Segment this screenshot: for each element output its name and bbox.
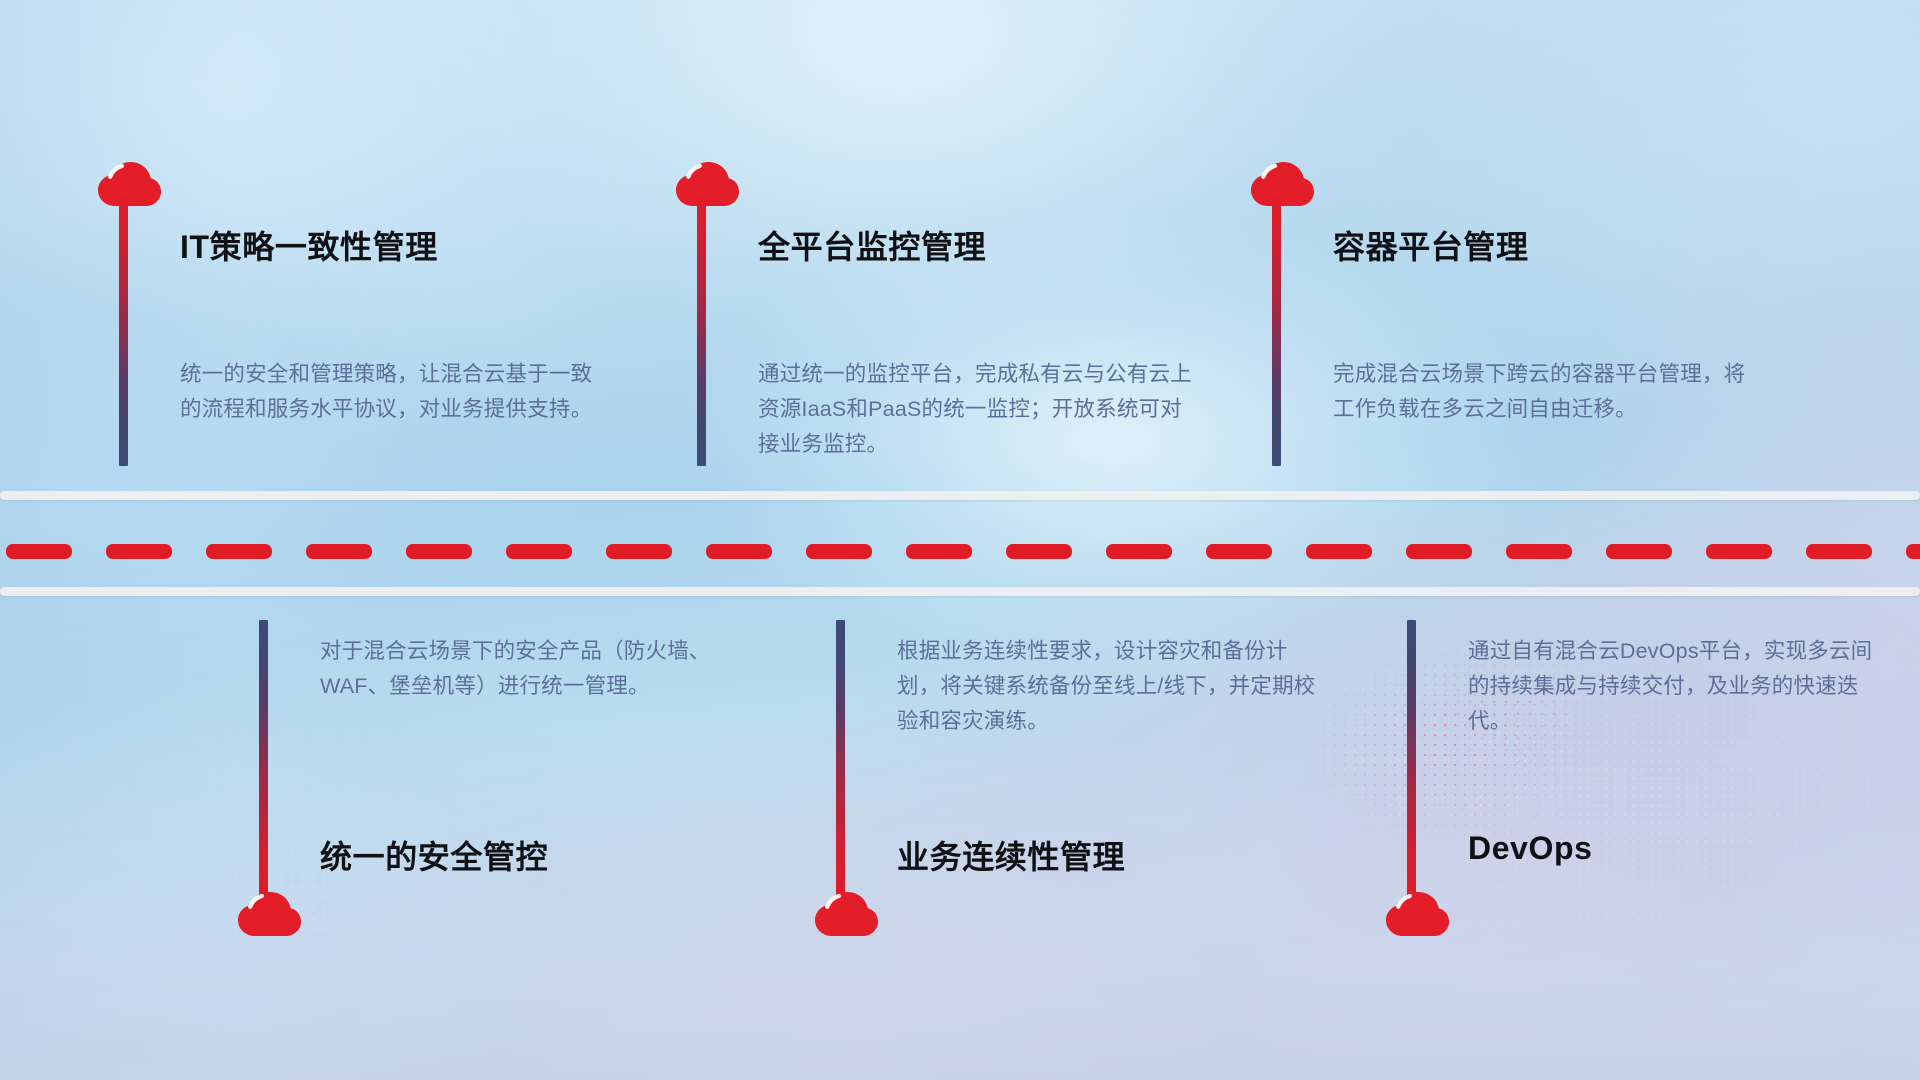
divider-dash <box>1706 544 1772 559</box>
divider-dash <box>1406 544 1472 559</box>
item-title: 全平台监控管理 <box>758 222 986 268</box>
marker-stem <box>119 196 128 466</box>
item-body: 根据业务连续性要求，设计容灾和备份计划，将关键系统备份至线上/线下，并定期校验和… <box>897 634 1317 739</box>
divider-dash <box>1306 544 1372 559</box>
item-title: IT策略一致性管理 <box>180 222 438 268</box>
divider-dash <box>1606 544 1672 559</box>
divider-dash <box>406 544 472 559</box>
divider-line-lower <box>0 587 1920 596</box>
divider-line-upper <box>0 491 1920 500</box>
item-body: 完成混合云场景下跨云的容器平台管理，将工作负载在多云之间自由迁移。 <box>1333 357 1763 427</box>
divider-dash <box>1906 544 1920 559</box>
item-title: 统一的安全管控 <box>320 832 548 878</box>
divider-dash <box>906 544 972 559</box>
divider-dash <box>206 544 272 559</box>
cloud-icon <box>236 890 302 938</box>
item-body: 通过自有混合云DevOps平台，实现多云间的持续集成与持续交付，及业务的快速迭代… <box>1468 634 1888 739</box>
divider-dash <box>1206 544 1272 559</box>
marker-stem <box>1407 620 1416 896</box>
divider-dash <box>706 544 772 559</box>
divider-dash <box>506 544 572 559</box>
divider-dash <box>1806 544 1872 559</box>
item-body: 对于混合云场景下的安全产品（防火墙、WAF、堡垒机等）进行统一管理。 <box>320 634 740 704</box>
cloud-icon <box>1249 160 1315 208</box>
divider-dash <box>106 544 172 559</box>
item-body: 通过统一的监控平台，完成私有云与公有云上资源IaaS和PaaS的统一监控；开放系… <box>758 357 1193 462</box>
item-body: 统一的安全和管理策略，让混合云基于一致的流程和服务水平协议，对业务提供支持。 <box>180 357 610 427</box>
item-title: 容器平台管理 <box>1333 222 1529 268</box>
divider-dash <box>306 544 372 559</box>
divider-dash <box>6 544 72 559</box>
cloud-icon <box>813 890 879 938</box>
divider-dash <box>606 544 672 559</box>
cloud-icon <box>1384 890 1450 938</box>
cloud-icon <box>96 160 162 208</box>
marker-stem <box>697 196 706 466</box>
marker-stem <box>259 620 268 896</box>
divider-dash <box>1506 544 1572 559</box>
marker-stem <box>836 620 845 896</box>
item-title: 业务连续性管理 <box>897 832 1125 878</box>
divider-dashed-centerline <box>0 544 1920 559</box>
infographic-canvas: IT策略一致性管理 统一的安全和管理策略，让混合云基于一致的流程和服务水平协议，… <box>0 0 1920 1080</box>
divider-dash <box>1006 544 1072 559</box>
cloud-icon <box>674 160 740 208</box>
marker-stem <box>1272 196 1281 466</box>
item-title: DevOps <box>1468 830 1593 867</box>
divider-dash <box>1106 544 1172 559</box>
divider-dash <box>806 544 872 559</box>
